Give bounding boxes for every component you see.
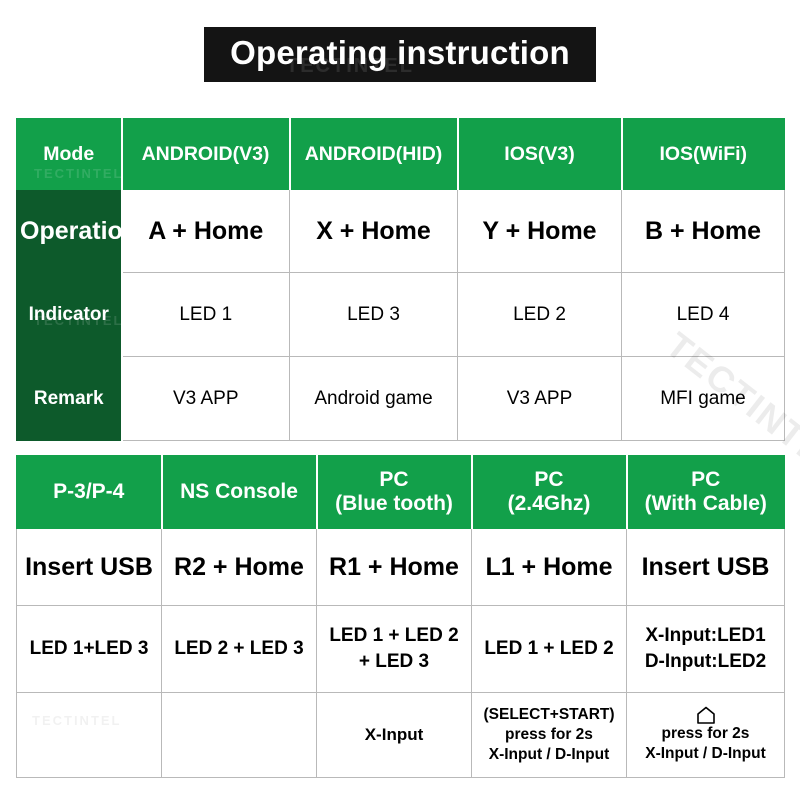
page-title: Operating instruction (204, 27, 596, 82)
table2-header-p3p4-line1: P-3/P-4 (20, 480, 158, 504)
table2-indicator-pc-24ghz-line1: LED 1 + LED 2 (475, 636, 623, 662)
table2-operation-p3p4: Insert USB (17, 529, 162, 606)
table2-operation-pc-24ghz: L1 + Home (472, 529, 627, 606)
table2-indicator-pc-bluetooth-line1: LED 1 + LED 2 (320, 623, 468, 649)
table-header-row: Mode ANDROID(V3) ANDROID(HID) IOS(V3) IO… (17, 119, 785, 190)
table2-input-pc-24ghz-line1: (SELECT+START) (475, 705, 623, 725)
table2-input-pc-cable-line2: X-Input / D-Input (630, 744, 781, 764)
table-row: Insert USB R2 + Home R1 + Home L1 + Home… (17, 529, 785, 606)
table1-header-mode: Mode (17, 119, 122, 190)
table-row: Remark V3 APP Android game V3 APP MFI ga… (17, 357, 785, 441)
table2-header-pc-cable-line2: (With Cable) (631, 492, 782, 516)
table1-operation-ios-wifi: B + Home (622, 190, 785, 273)
table2-header-ns-console: NS Console (162, 456, 317, 529)
table1-remark-android-hid: Android game (290, 357, 458, 441)
table2-header-pc-24ghz-line1: PC (476, 468, 623, 492)
page-title-container: Operating instruction (0, 27, 800, 82)
table1-remark-android-v3: V3 APP (122, 357, 290, 441)
table2-indicator-pc-24ghz: LED 1 + LED 2 (472, 606, 627, 693)
table2-input-pc-bluetooth: X-Input (317, 693, 472, 778)
table2-input-ns-console (162, 693, 317, 778)
home-icon (630, 706, 781, 724)
table1-rowlabel-remark: Remark (17, 357, 122, 441)
table2-header-pc-24ghz: PC (2.4Ghz) (472, 456, 627, 529)
table2-input-pc-bluetooth-line2: X-Input (320, 724, 468, 746)
table2-indicator-p3p4-line1: LED 1+LED 3 (20, 636, 158, 662)
table1-header-android-hid: ANDROID(HID) (290, 119, 458, 190)
table2-header-pc-cable-line1: PC (631, 468, 782, 492)
table2-indicator-pc-bluetooth-line2: + LED 3 (320, 649, 468, 675)
table2-operation-ns-console: R2 + Home (162, 529, 317, 606)
table1-rowlabel-operation: Operation (17, 190, 122, 273)
table-header-row: P-3/P-4 NS Console PC (Blue tooth) PC (2… (17, 456, 785, 529)
table2-indicator-pc-cable-line2: D-Input:LED2 (630, 649, 781, 675)
table2-header-p3p4: P-3/P-4 (17, 456, 162, 529)
mode-table: Mode ANDROID(V3) ANDROID(HID) IOS(V3) IO… (16, 118, 785, 441)
table2-indicator-pc-cable: X-Input:LED1 D-Input:LED2 (627, 606, 785, 693)
table2-operation-pc-bluetooth: R1 + Home (317, 529, 472, 606)
table2-header-ns-console-line1: NS Console (166, 480, 313, 504)
table-row: Operation A + Home X + Home Y + Home B +… (17, 190, 785, 273)
table1-remark-ios-v3: V3 APP (458, 357, 622, 441)
table2-indicator-pc-bluetooth: LED 1 + LED 2 + LED 3 (317, 606, 472, 693)
table1-header-ios-wifi: IOS(WiFi) (622, 119, 785, 190)
table2-input-pc-24ghz-line3: X-Input / D-Input (475, 745, 623, 765)
table2-header-pc-cable: PC (With Cable) (627, 456, 785, 529)
table-row: Indicator LED 1 LED 3 LED 2 LED 4 (17, 273, 785, 357)
table-row: LED 1+LED 3 LED 2 + LED 3 LED 1 + LED 2 … (17, 606, 785, 693)
table2-input-pc-cable-line1-wrap: press for 2s (630, 706, 781, 744)
table1-remark-ios-wifi: MFI game (622, 357, 785, 441)
table2-operation-pc-cable: Insert USB (627, 529, 785, 606)
table2-indicator-pc-cable-line1: X-Input:LED1 (630, 623, 781, 649)
table2-header-pc-bluetooth-line2: (Blue tooth) (321, 492, 468, 516)
table2-input-pc-cable: press for 2s X-Input / D-Input (627, 693, 785, 778)
table2-indicator-ns-console-line1: LED 2 + LED 3 (165, 636, 313, 662)
table2-input-pc-24ghz: (SELECT+START) press for 2s X-Input / D-… (472, 693, 627, 778)
table2-header-pc-bluetooth-line1: PC (321, 468, 468, 492)
platform-table: P-3/P-4 NS Console PC (Blue tooth) PC (2… (16, 455, 785, 778)
table1-indicator-ios-v3: LED 2 (458, 273, 622, 357)
table1-indicator-ios-wifi: LED 4 (622, 273, 785, 357)
table-row: X-Input (SELECT+START) press for 2s X-In… (17, 693, 785, 778)
table2-input-p3p4 (17, 693, 162, 778)
table2-header-pc-24ghz-line2: (2.4Ghz) (476, 492, 623, 516)
table1-operation-ios-v3: Y + Home (458, 190, 622, 273)
table1-header-ios-v3: IOS(V3) (458, 119, 622, 190)
table1-header-android-v3: ANDROID(V3) (122, 119, 290, 190)
table2-input-pc-24ghz-line2: press for 2s (475, 725, 623, 745)
table2-input-pc-cable-line1: press for 2s (630, 724, 781, 744)
table2-indicator-ns-console: LED 2 + LED 3 (162, 606, 317, 693)
table1-operation-android-v3: A + Home (122, 190, 290, 273)
table1-indicator-android-hid: LED 3 (290, 273, 458, 357)
table1-rowlabel-indicator: Indicator (17, 273, 122, 357)
table1-operation-android-hid: X + Home (290, 190, 458, 273)
table2-header-pc-bluetooth: PC (Blue tooth) (317, 456, 472, 529)
table2-indicator-p3p4: LED 1+LED 3 (17, 606, 162, 693)
table1-indicator-android-v3: LED 1 (122, 273, 290, 357)
